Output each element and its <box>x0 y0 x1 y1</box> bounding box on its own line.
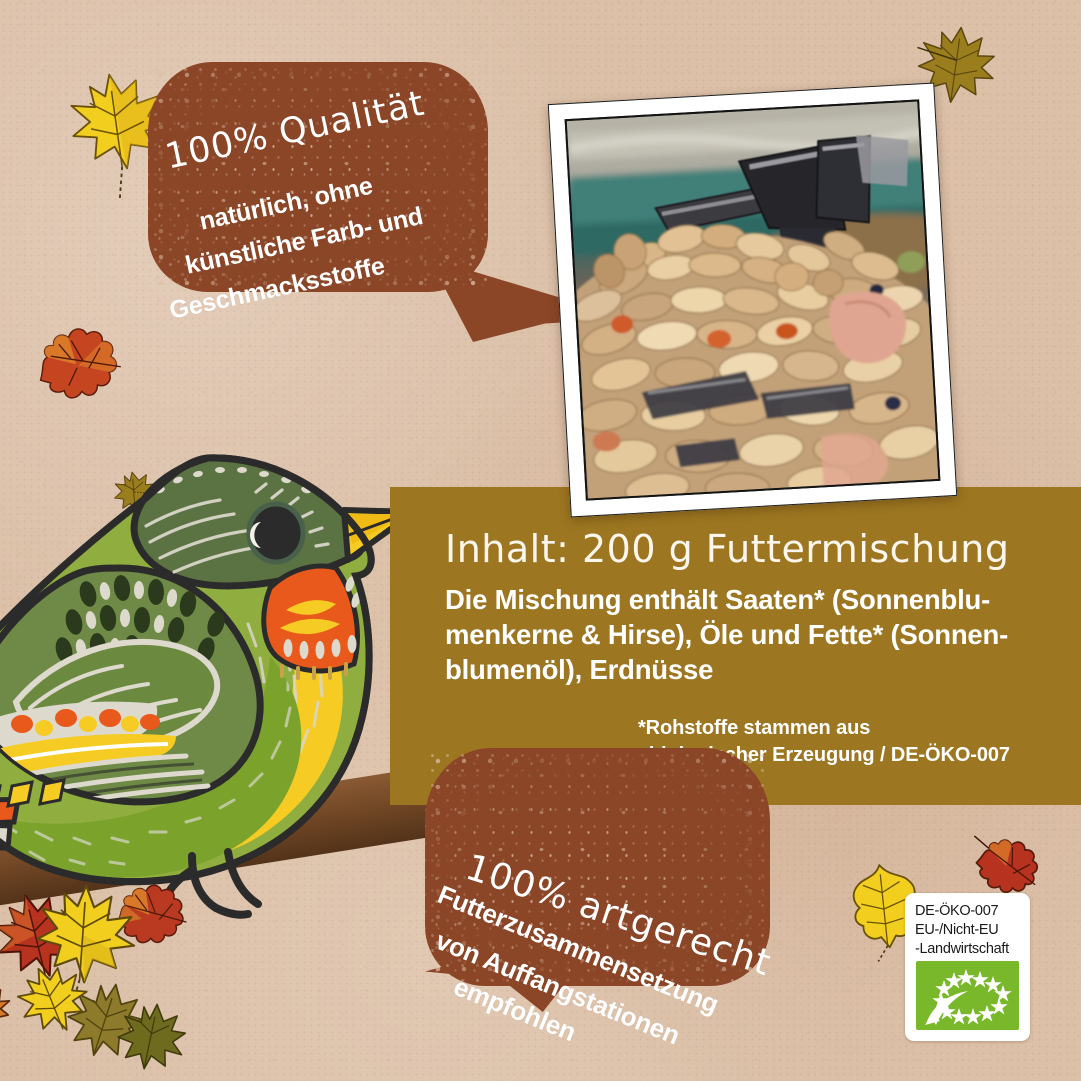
package-artwork: Inhalt: 200 g Futtermischung Die Mischun… <box>0 0 1081 1081</box>
eu-origin: EU-/Nicht-EU <box>915 921 1023 940</box>
leaf-red-oak-left <box>15 306 138 423</box>
content-title: Inhalt: 200 g Futtermischung <box>445 527 1009 571</box>
leaf-cluster-bottom-left <box>0 860 270 1075</box>
eu-farming: -Landwirtschaft <box>915 940 1023 959</box>
photo-content <box>567 101 939 498</box>
ingredients-text: Die Mischung enthält Saaten* (Sonnenblu-… <box>445 582 1045 688</box>
speech-bubble-quality: 100% Qualität natürlich, ohne künstliche… <box>148 62 488 292</box>
photo-frame-inner <box>565 99 941 500</box>
eu-logo-text: DE-ÖKO-007 EU-/Nicht-EU -Landwirtschaft <box>915 902 1023 959</box>
eu-organic-logo: DE-ÖKO-007 EU-/Nicht-EU -Landwirtschaft <box>905 893 1030 1041</box>
seed-mix-photo <box>548 83 958 518</box>
eu-leaf-icon <box>916 961 1019 1030</box>
speech-bubble-species: 100% artgerecht Futterzusammensetzung vo… <box>425 748 770 986</box>
eu-control-code: DE-ÖKO-007 <box>915 902 1023 921</box>
